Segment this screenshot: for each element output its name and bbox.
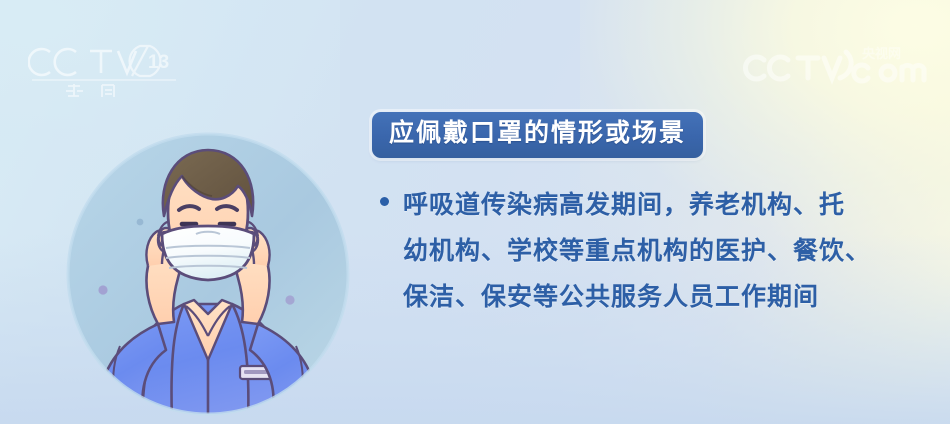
person-wearing-mask-illustration — [62, 128, 354, 420]
page-title: 应佩戴口罩的情形或场景 — [389, 119, 686, 149]
bullet-line: 呼吸道传染病高发期间，养老机构、托 — [403, 182, 926, 228]
cctv-com-watermark: 央视网 — [742, 38, 932, 90]
bullet-line: 保洁、保安等公共服务人员工作期间 — [403, 274, 926, 320]
title-banner: 应佩戴口罩的情形或场景 — [372, 112, 703, 158]
bullet-text: 呼吸道传染病高发期间，养老机构、托 幼机构、学校等重点机构的医护、餐饮、 保洁、… — [403, 182, 926, 320]
bullet-item: 呼吸道传染病高发期间，养老机构、托 幼机构、学校等重点机构的医护、餐饮、 保洁、… — [366, 182, 926, 320]
slide-content: 应佩戴口罩的情形或场景 呼吸道传染病高发期间，养老机构、托 幼机构、学校等重点机… — [366, 112, 926, 320]
cctv13-channel-logo: 13 — [28, 36, 180, 98]
bullet-dot-icon — [380, 197, 389, 206]
bullet-line: 幼机构、学校等重点机构的医护、餐饮、 — [403, 228, 926, 274]
svg-text:13: 13 — [148, 52, 169, 73]
broadcast-slide: 13 央视网 — [0, 0, 950, 424]
svg-text:央视网: 央视网 — [862, 46, 901, 61]
